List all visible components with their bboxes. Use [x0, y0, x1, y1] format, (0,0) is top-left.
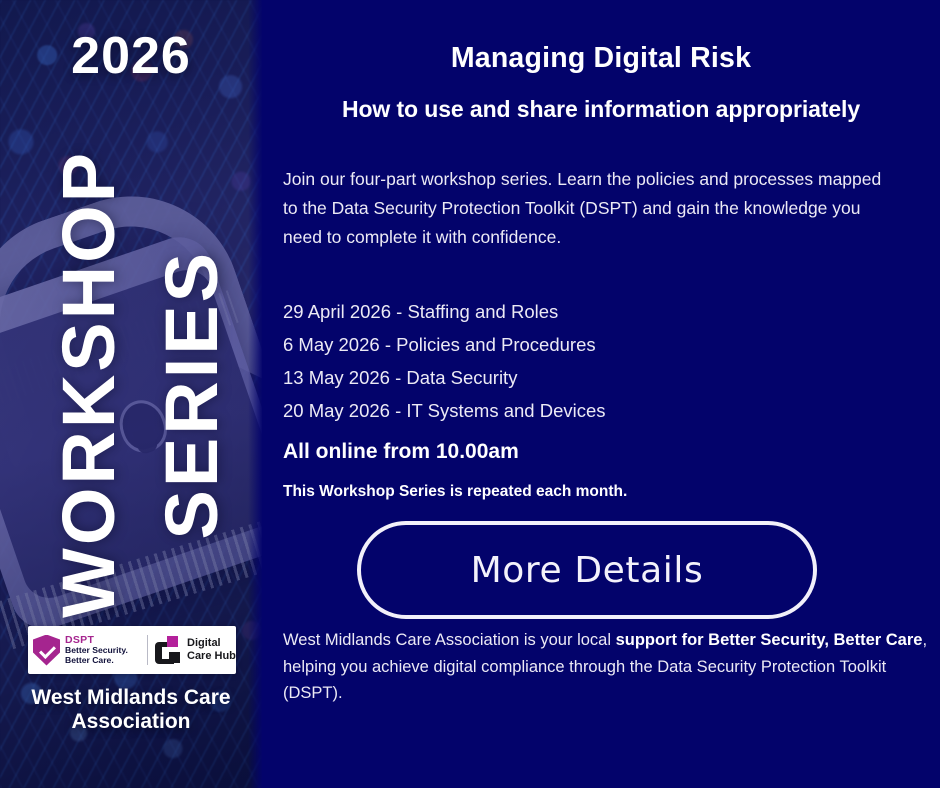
digital-care-hub-logo: Digital Care Hub [155, 636, 236, 664]
online-time-note: All online from 10.00am [283, 440, 883, 464]
organisation-name: West Midlands Care Association [0, 686, 262, 735]
digital-care-hub-mark-icon [155, 636, 181, 664]
more-details-button[interactable]: More Details [357, 521, 817, 619]
dspt-logo: DSPT Better Security. Better Care. [28, 635, 145, 666]
page-subtitle: How to use and share information appropr… [262, 96, 940, 123]
list-item: 29 April 2026 - Staffing and Roles [283, 295, 903, 328]
footer-paragraph: West Midlands Care Association is your l… [283, 627, 928, 707]
shield-check-icon [33, 635, 60, 666]
intro-paragraph: Join our four-part workshop series. Lear… [283, 165, 883, 252]
left-panel: 2026 WORKSHOP SERIES DSPT Better Securit… [0, 0, 262, 788]
logo-divider [147, 635, 148, 665]
logo-strip: DSPT Better Security. Better Care. Digit… [28, 626, 236, 674]
vertical-word-workshop: WORKSHOP [52, 150, 126, 618]
organisation-name-line1: West Midlands Care [0, 686, 262, 710]
more-details-button-label: More Details [471, 550, 704, 591]
hub-square-dark [169, 652, 180, 663]
organisation-name-line2: Association [0, 710, 262, 734]
page-title: Managing Digital Risk [262, 42, 940, 75]
content-panel: Managing Digital Risk How to use and sha… [262, 0, 940, 788]
footer-text-part1: West Midlands Care Association is your l… [283, 631, 616, 649]
repeat-schedule-note: This Workshop Series is repeated each mo… [283, 483, 883, 501]
session-date-list: 29 April 2026 - Staffing and Roles 6 May… [283, 295, 903, 427]
list-item: 20 May 2026 - IT Systems and Devices [283, 394, 903, 427]
hub-square-magenta [167, 636, 178, 647]
footer-text-bold: support for Better Security, Better Care [616, 631, 923, 649]
list-item: 13 May 2026 - Data Security [283, 361, 903, 394]
list-item: 6 May 2026 - Policies and Procedures [283, 328, 903, 361]
poster-root: 2026 WORKSHOP SERIES DSPT Better Securit… [0, 0, 940, 788]
vertical-word-series: SERIES [155, 250, 229, 539]
dspt-logo-line2: Better Care. [65, 656, 128, 666]
hub-logo-line2: Care Hub [187, 650, 236, 663]
hub-logo-line1: Digital [187, 637, 236, 650]
digital-care-hub-text: Digital Care Hub [187, 637, 236, 663]
dspt-logo-text: DSPT Better Security. Better Care. [65, 635, 128, 666]
